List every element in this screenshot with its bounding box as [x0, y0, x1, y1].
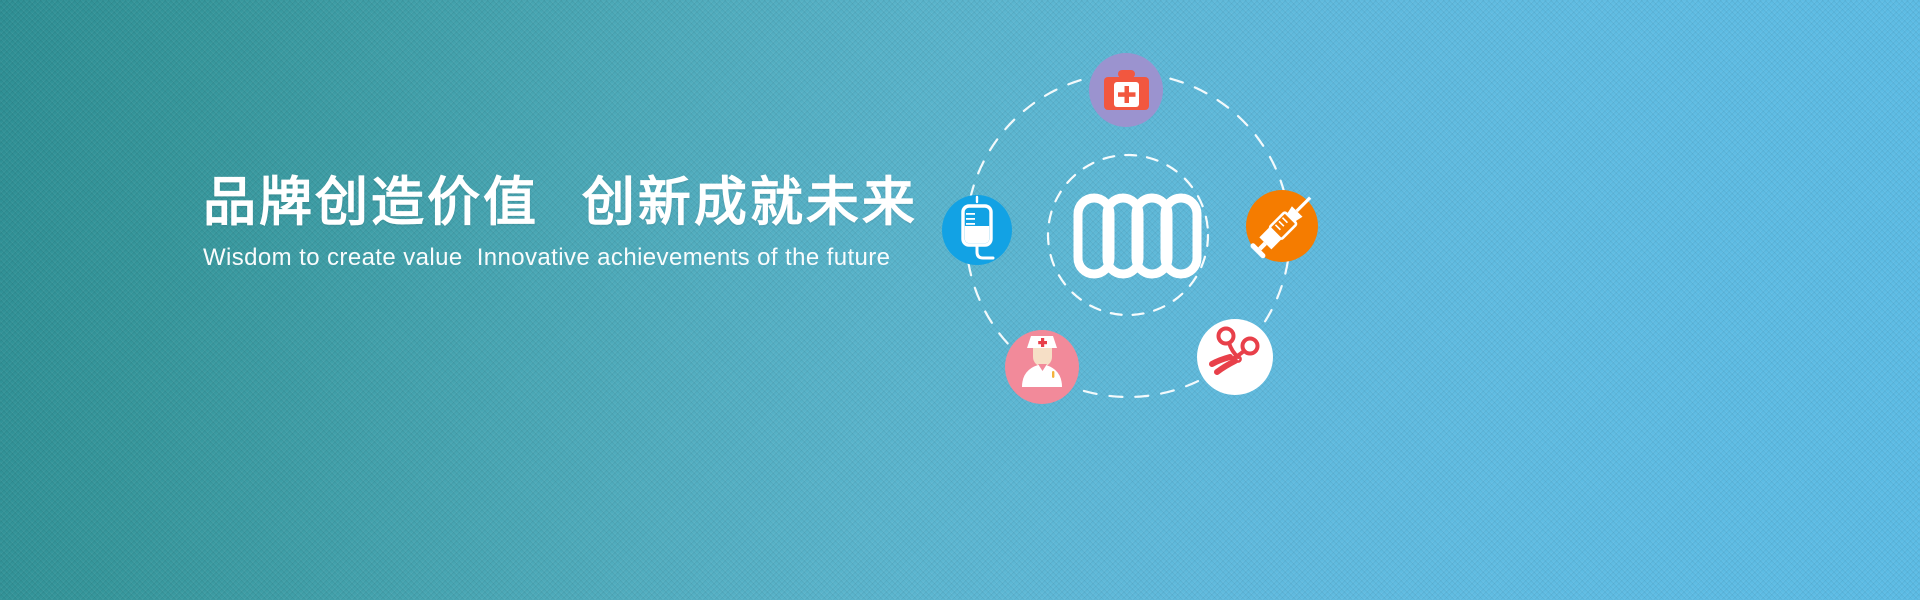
page-title: 品牌创造价值 创新成就未来 — [203, 172, 918, 235]
hero-banner: 品牌创造价值 创新成就未来 Wisdom to create value Inn… — [0, 0, 1920, 600]
banner-copy: 品牌创造价值 创新成就未来 Wisdom to create value Inn… — [203, 172, 918, 272]
medical-icon-cluster — [930, 30, 1350, 430]
node-nurse[interactable] — [1005, 330, 1079, 404]
page-subtitle: Wisdom to create value Innovative achiev… — [203, 244, 918, 272]
inner-dashed-ring — [1048, 155, 1208, 315]
node-first-aid-kit[interactable] — [1089, 53, 1163, 127]
node-surgical-scissors[interactable] — [1197, 319, 1273, 395]
node-syringe[interactable] — [1246, 190, 1318, 262]
node-iv-drip[interactable] — [942, 195, 1012, 265]
center-logo — [1078, 198, 1197, 274]
